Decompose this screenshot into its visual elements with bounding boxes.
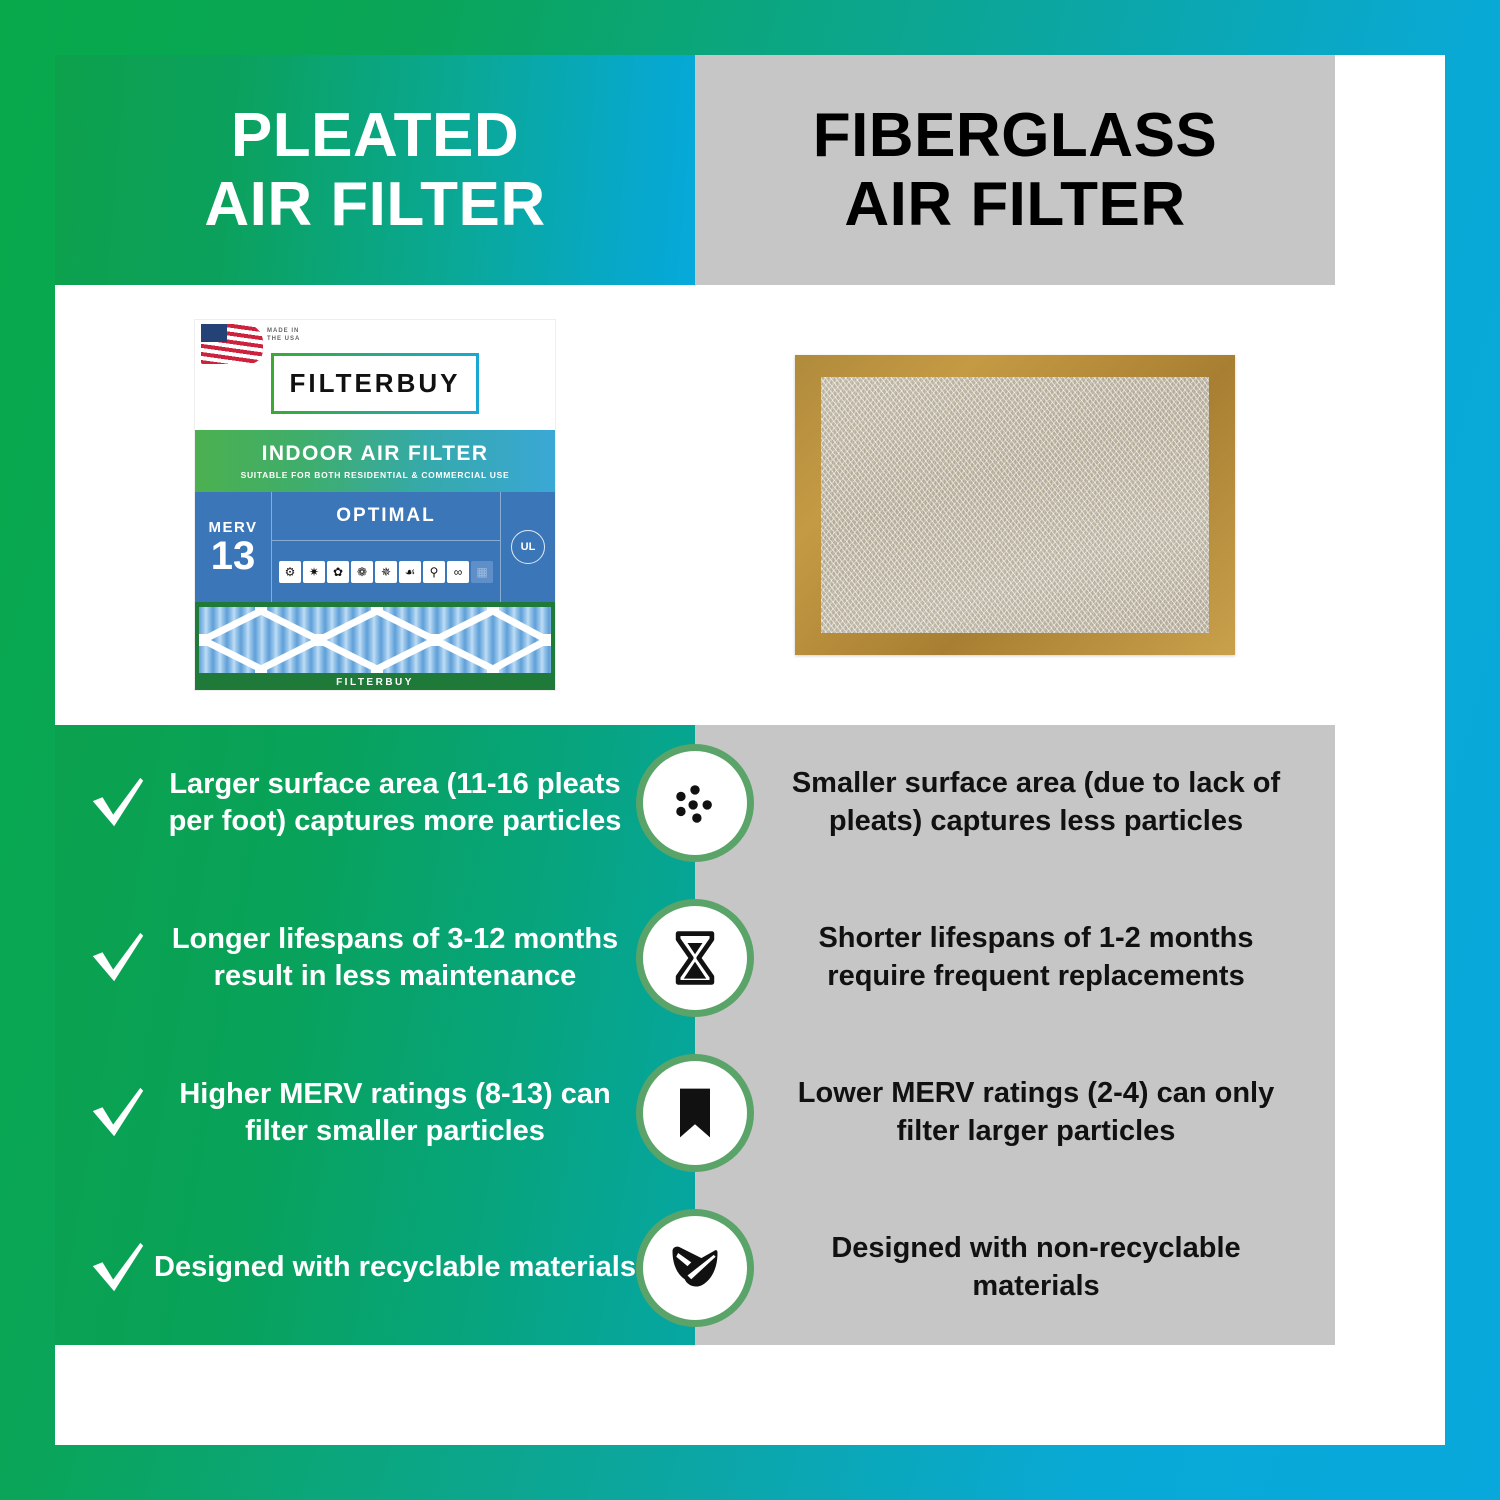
particles-icon xyxy=(643,751,747,855)
pleated-header-panel: PLEATED AIR FILTER xyxy=(55,55,695,285)
pleated-header-title: PLEATED AIR FILTER xyxy=(204,101,545,240)
row-right-text: Designed with non-recyclable materials xyxy=(767,1230,1305,1304)
row-right-cell: Smaller surface area (due to lack of ple… xyxy=(695,765,1335,839)
merv-value: 13 xyxy=(211,536,256,576)
check-icon xyxy=(85,1237,151,1299)
filter-support-lattice xyxy=(199,607,551,673)
row-left-text: Higher MERV ratings (8-13) can filter sm… xyxy=(151,1076,639,1149)
pleated-media-area: FILTERBUY xyxy=(195,602,555,690)
made-in-usa-label: MADE IN THE USA xyxy=(267,327,300,343)
pleated-spec-bar: MERV 13 OPTIMAL ⚙ ✷ ✿ ❁ ✵ ☙ ⚲ ∞ ▦ xyxy=(195,492,555,602)
bacteria-icon: ∞ xyxy=(447,561,469,583)
row-left-cell: Designed with recyclable materials xyxy=(55,1237,695,1299)
particles-glyph xyxy=(665,773,725,833)
leaf-icon xyxy=(643,1216,747,1320)
household-dust-icon: ⚙ xyxy=(279,561,301,583)
pleated-product-cell: MADE IN THE USA FILTERBUY INDOOR AIR FIL… xyxy=(55,285,695,725)
comparison-row: Higher MERV ratings (8-13) can filter sm… xyxy=(55,1035,1335,1190)
product-line-label: INDOOR AIR FILTER xyxy=(262,442,489,466)
row-right-cell: Shorter lifespans of 1-2 months require … xyxy=(695,920,1335,994)
fiberglass-header-panel: FIBERGLASS AIR FILTER xyxy=(695,55,1335,285)
row-left-text: Longer lifespans of 3-12 months result i… xyxy=(151,921,639,994)
pollen-icon: ✿ xyxy=(327,561,349,583)
filterbuy-logo-text: FILTERBUY xyxy=(290,368,461,399)
checkmark-glyph xyxy=(87,772,149,834)
dander-icon: ☙ xyxy=(399,561,421,583)
row-left-text: Designed with recyclable materials xyxy=(151,1249,639,1286)
check-icon xyxy=(85,772,151,834)
fiberglass-header-title: FIBERGLASS AIR FILTER xyxy=(813,101,1218,240)
checkmark-glyph xyxy=(87,1237,149,1299)
fiberglass-media-texture xyxy=(821,377,1209,633)
tier-label: OPTIMAL xyxy=(272,492,500,541)
merv-label: MERV xyxy=(208,519,257,536)
virus-icon: ▦ xyxy=(471,561,493,583)
capture-icon-strip: ⚙ ✷ ✿ ❁ ✵ ☙ ⚲ ∞ ▦ xyxy=(272,541,500,602)
usa-flag-icon xyxy=(201,324,263,364)
row-right-cell: Lower MERV ratings (2-4) can only filter… xyxy=(695,1075,1335,1149)
fiberglass-filter-image xyxy=(795,355,1235,655)
bookmark-icon xyxy=(643,1061,747,1165)
product-images-row: MADE IN THE USA FILTERBUY INDOOR AIR FIL… xyxy=(55,285,1335,725)
pleat-texture xyxy=(199,607,551,673)
row-left-cell: Longer lifespans of 3-12 months result i… xyxy=(55,921,695,994)
row-right-text: Shorter lifespans of 1-2 months require … xyxy=(767,920,1305,994)
row-right-text: Lower MERV ratings (2-4) can only filter… xyxy=(767,1075,1305,1149)
header-band: PLEATED AIR FILTER FIBERGLASS AIR FILTER xyxy=(55,55,1335,285)
row-right-text: Smaller surface area (due to lack of ple… xyxy=(767,765,1305,839)
checkmark-glyph xyxy=(87,1082,149,1144)
checkmark-glyph xyxy=(87,927,149,989)
mold-icon: ❁ xyxy=(351,561,373,583)
row-left-cell: Larger surface area (11-16 pleats per fo… xyxy=(55,766,695,839)
hourglass-icon xyxy=(643,906,747,1010)
check-icon xyxy=(85,927,151,989)
pleated-foot-brand: FILTERBUY xyxy=(195,677,555,688)
tier-and-icons: OPTIMAL ⚙ ✷ ✿ ❁ ✵ ☙ ⚲ ∞ ▦ xyxy=(272,492,500,602)
pleated-filter-image: MADE IN THE USA FILTERBUY INDOOR AIR FIL… xyxy=(195,320,555,690)
row-left-text: Larger surface area (11-16 pleats per fo… xyxy=(151,766,639,839)
ul-certification-block: UL xyxy=(500,492,555,602)
ul-certification-icon: UL xyxy=(511,530,545,564)
merv-block: MERV 13 xyxy=(195,492,272,602)
comparison-rows: Larger surface area (11-16 pleats per fo… xyxy=(55,725,1335,1345)
check-icon xyxy=(85,1082,151,1144)
fiberglass-product-cell xyxy=(695,285,1335,725)
comparison-row: Designed with recyclable materials Desig… xyxy=(55,1190,1335,1345)
lint-icon: ✵ xyxy=(375,561,397,583)
comparison-row: Longer lifespans of 3-12 months result i… xyxy=(55,880,1335,1035)
product-subtitle-label: SUITABLE FOR BOTH RESIDENTIAL & COMMERCI… xyxy=(241,470,510,480)
row-right-cell: Designed with non-recyclable materials xyxy=(695,1230,1335,1304)
pleated-product-line-bar: INDOOR AIR FILTER SUITABLE FOR BOTH RESI… xyxy=(195,430,555,492)
comparison-section: Larger surface area (11-16 pleats per fo… xyxy=(55,725,1335,1345)
comparison-row: Larger surface area (11-16 pleats per fo… xyxy=(55,725,1335,880)
pleated-logo-bar: MADE IN THE USA FILTERBUY xyxy=(195,320,555,430)
filterbuy-logo-box: FILTERBUY xyxy=(271,353,480,414)
row-left-cell: Higher MERV ratings (8-13) can filter sm… xyxy=(55,1076,695,1149)
hourglass-glyph xyxy=(665,928,725,988)
leaf-glyph xyxy=(665,1238,725,1298)
powder-icon: ⚲ xyxy=(423,561,445,583)
bookmark-glyph xyxy=(665,1083,725,1143)
dust-mites-icon: ✷ xyxy=(303,561,325,583)
